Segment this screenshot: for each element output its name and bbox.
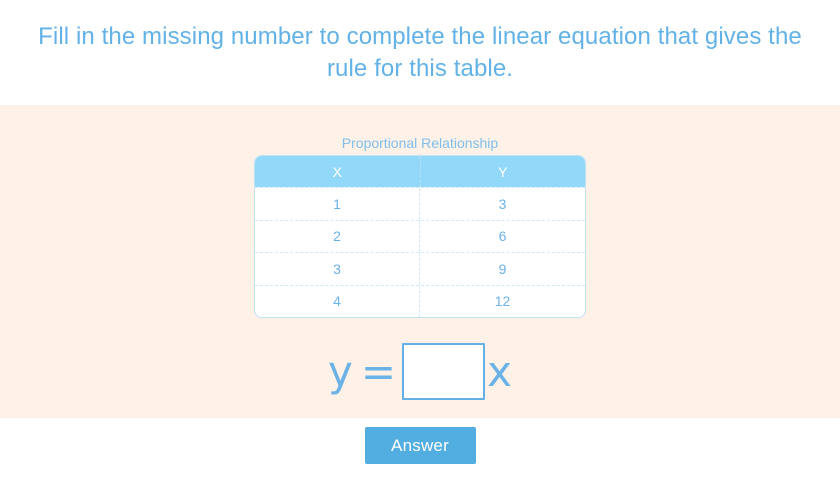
question-prompt-text: Fill in the missing number to complete t… (20, 21, 820, 84)
table-cell-x: 2 (255, 221, 420, 253)
equation-variable-x: x (487, 351, 512, 393)
answer-button-band: Answer (0, 418, 840, 501)
question-prompt-band: Fill in the missing number to complete t… (0, 0, 840, 105)
table-row: 3 9 (255, 252, 585, 285)
equation-left-side: y (328, 351, 353, 393)
coefficient-input[interactable] (402, 343, 485, 400)
table-header-cell-x: X (255, 156, 421, 187)
table-cell-y: 12 (420, 286, 585, 318)
equation-equals-sign: = (361, 351, 396, 393)
table-cell-x: 3 (255, 253, 420, 285)
exercise-content-area: Proportional Relationship X Y 1 3 2 6 3 … (0, 105, 840, 418)
proportional-relationship-table-wrap: Proportional Relationship X Y 1 3 2 6 3 … (254, 133, 586, 318)
table-row: 1 3 (255, 187, 585, 220)
table-cell-x: 4 (255, 286, 420, 318)
table-cell-y: 9 (420, 253, 585, 285)
table-cell-y: 3 (420, 188, 585, 220)
answer-button[interactable]: Answer (365, 427, 476, 464)
equation-row: y = x (0, 343, 840, 400)
table-caption: Proportional Relationship (254, 133, 586, 153)
table-row: 2 6 (255, 220, 585, 253)
table-header-cell-y: Y (421, 156, 586, 187)
table-cell-y: 6 (420, 221, 585, 253)
table-cell-x: 1 (255, 188, 420, 220)
table-row: 4 12 (255, 285, 585, 318)
proportional-relationship-table: X Y 1 3 2 6 3 9 4 12 (254, 155, 586, 318)
table-header-row: X Y (255, 156, 585, 187)
